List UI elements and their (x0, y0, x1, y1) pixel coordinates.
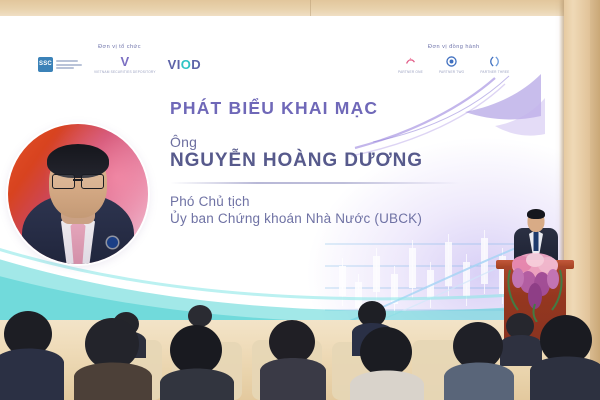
ssc-wordmark (56, 60, 82, 69)
ssc-icon: SSC (38, 57, 53, 72)
partner-3-sublabel: PARTNER THREE (480, 70, 509, 74)
slide-title: PHÁT BIỂU KHAI MẠC (170, 98, 378, 119)
partner-logo-3: PARTNER THREE (480, 55, 509, 74)
slide-person-name: NGUYỄN HOÀNG DƯƠNG (170, 150, 423, 172)
vsd-sublabel: VIETNAM SECURITIES DEPOSITORY (94, 70, 156, 74)
slide-role-line-1: Phó Chủ tịch (170, 194, 250, 209)
portrait-glasses-icon (52, 174, 104, 187)
slide-honorific: Ông (170, 134, 197, 150)
projection-screen: Đơn vị tổ chức SSC V VIETNAM SECURITIES … (0, 16, 565, 320)
partner-3-icon (488, 55, 501, 68)
viod-icon: VIOD (168, 58, 201, 71)
vsd-icon: V (120, 55, 129, 68)
portrait-lapel-pin (107, 237, 118, 248)
slide-role-line-2: Ủy ban Chứng khoán Nhà Nước (UBCK) (170, 211, 422, 226)
logo-ssc: SSC (38, 57, 82, 72)
partner-2-icon (445, 55, 458, 68)
slide-divider (170, 182, 460, 184)
logo-vsd: V VIETNAM SECURITIES DEPOSITORY (94, 55, 156, 74)
partner-1-sublabel: PARTNER ONE (398, 70, 423, 74)
partner-logo-2: PARTNER TWO (439, 55, 464, 74)
audience-seated-rows (0, 300, 600, 400)
partner-1-icon (404, 55, 417, 68)
speaker-hair (527, 209, 545, 219)
partner-logos: Đơn vị đồng hành PARTNER ONE PARTNER TWO (398, 44, 510, 74)
portrait-hair (47, 144, 109, 178)
partner-2-sublabel: PARTNER TWO (439, 70, 464, 74)
conference-photo: Đơn vị tổ chức SSC V VIETNAM SECURITIES … (0, 0, 600, 400)
logo-viod: VIOD (168, 58, 201, 71)
organizer-caption: Đơn vị tổ chức (38, 44, 201, 50)
speaker-portrait (8, 124, 148, 264)
partner-caption: Đơn vị đồng hành (398, 44, 510, 50)
partner-logo-1: PARTNER ONE (398, 55, 423, 74)
organizer-logos: Đơn vị tổ chức SSC V VIETNAM SECURITIES … (38, 44, 201, 74)
